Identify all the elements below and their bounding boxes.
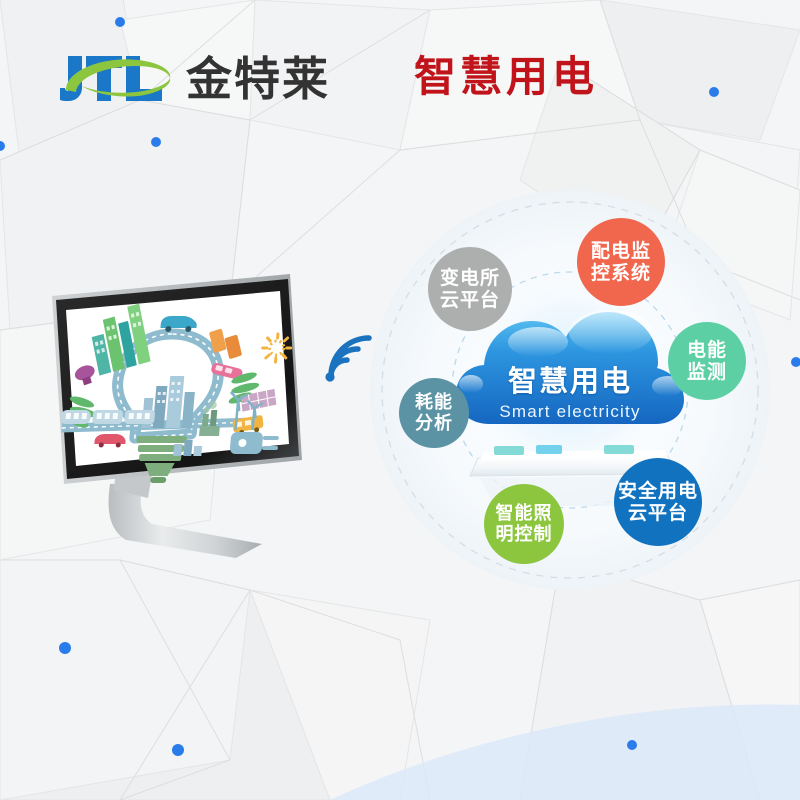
jtl-logo-icon bbox=[60, 48, 180, 110]
bubble-dianneng-line1: 电能 bbox=[687, 339, 727, 361]
poster-header: 金特莱 智慧用电 bbox=[0, 0, 800, 140]
bubble-haoneng-line1: 耗能 bbox=[415, 392, 453, 413]
bubble-biandian-line2: 云平台 bbox=[440, 289, 500, 311]
bubble-anquan-yongdian-yunpingtai[interactable]: 安全用电 云平台 bbox=[614, 458, 702, 546]
bubble-dianneng-jiance[interactable]: 电能 监测 bbox=[668, 322, 746, 400]
brand-logo[interactable]: 金特莱 bbox=[60, 48, 330, 110]
page-title: 智慧用电 bbox=[414, 52, 598, 102]
bubble-haoneng-fenxi[interactable]: 耗能 分析 bbox=[399, 378, 469, 448]
poster-canvas: 金特莱 智慧用电 bbox=[0, 0, 800, 800]
bubble-biandian-line1: 变电所 bbox=[440, 267, 500, 289]
bubble-biandiansuo-yunpingtai[interactable]: 变电所 云平台 bbox=[428, 247, 512, 331]
bubble-anquan-line1: 安全用电 bbox=[618, 480, 698, 502]
bubble-haoneng-line2: 分析 bbox=[415, 413, 453, 434]
bubble-peidian-line1: 配电监 bbox=[591, 240, 651, 262]
bubble-dianneng-line2: 监测 bbox=[687, 361, 727, 383]
bubble-anquan-line2: 云平台 bbox=[618, 502, 698, 524]
bubble-peidian-jiankong[interactable]: 配电监 控系统 bbox=[577, 218, 665, 306]
bubble-zhineng-line1: 智能照 bbox=[496, 503, 553, 524]
wifi-icon bbox=[318, 332, 374, 388]
bubble-zhineng-line2: 明控制 bbox=[496, 524, 553, 545]
bubble-zhineng-zhaoming-kongzhi[interactable]: 智能照 明控制 bbox=[484, 484, 564, 564]
desktop-monitor bbox=[48, 272, 324, 562]
brand-name: 金特莱 bbox=[186, 50, 330, 108]
bubble-peidian-line2: 控系统 bbox=[591, 262, 651, 284]
